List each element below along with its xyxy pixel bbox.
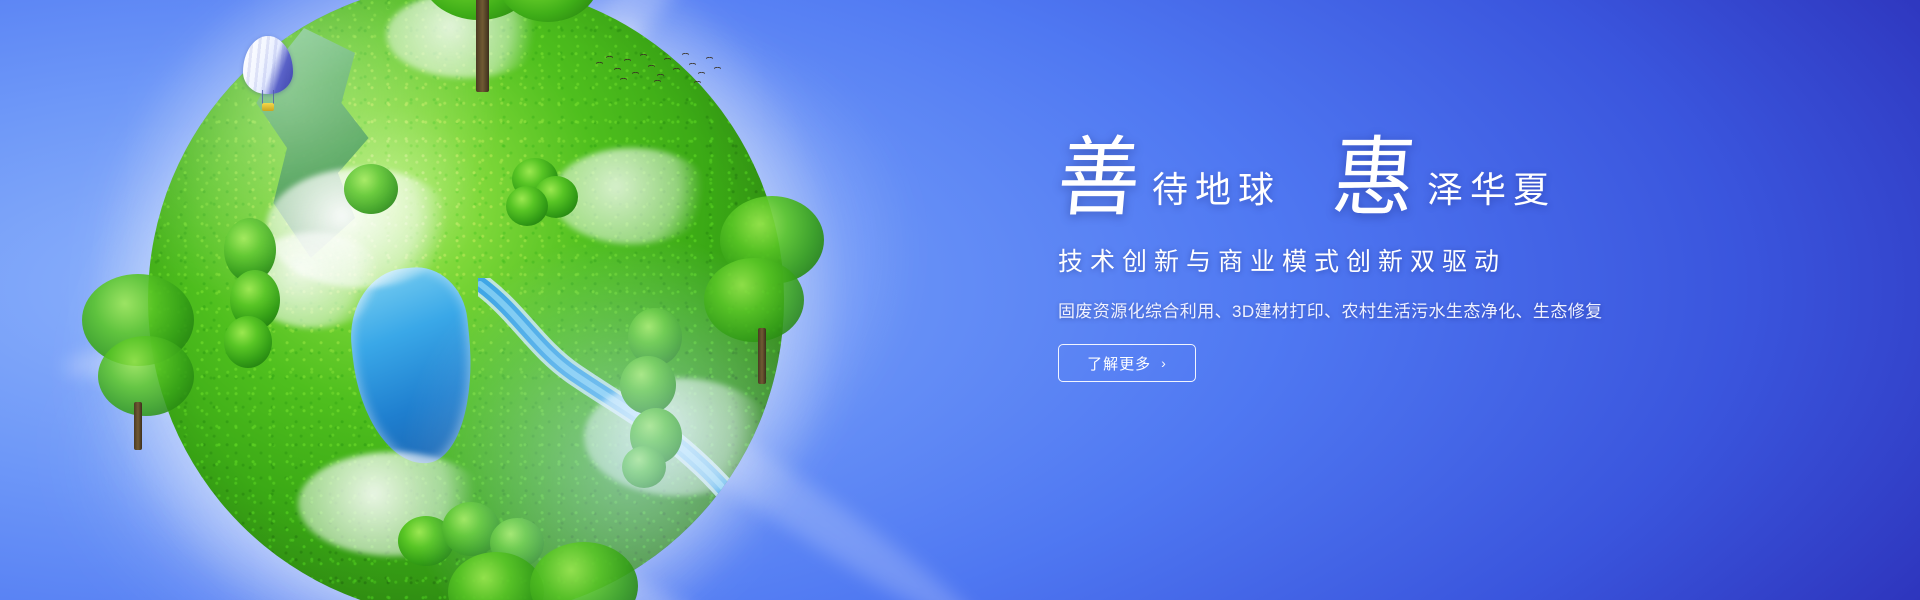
description-text: 固废资源化综合利用、3D建材打印、农村生活污水生态净化、生态修复 xyxy=(1058,297,1678,322)
headline-small-text-1: 待地球 xyxy=(1152,172,1281,208)
balloon-basket xyxy=(262,103,274,111)
lake-shore xyxy=(333,251,497,483)
planet-cloud xyxy=(584,378,774,496)
planet-cloud xyxy=(298,452,488,556)
bush xyxy=(344,164,398,218)
side-tree xyxy=(704,196,830,386)
planet-cloud xyxy=(244,232,384,328)
bush xyxy=(224,218,282,368)
planet-cloud xyxy=(552,148,712,244)
balloon-ropes xyxy=(262,90,274,104)
side-tree xyxy=(82,274,202,450)
learn-more-button[interactable]: 了解更多 › xyxy=(1058,344,1196,382)
bird-flock xyxy=(594,50,724,86)
planet-cloud xyxy=(266,168,456,288)
canopy-tree xyxy=(376,0,606,90)
bush xyxy=(504,158,578,232)
chevron-right-icon: › xyxy=(1161,356,1167,370)
balloon-envelope xyxy=(243,36,293,94)
headline-small-text-2: 泽华夏 xyxy=(1427,172,1556,208)
hero-copy: 善 待地球 惠 泽华夏 技术创新与商业模式创新双驱动 固废资源化综合利用、3D建… xyxy=(1058,120,1678,382)
lake xyxy=(344,262,482,469)
headline-phrase-1: 善 待地球 xyxy=(1058,141,1281,216)
learn-more-label: 了解更多 xyxy=(1087,353,1151,374)
bush xyxy=(618,308,688,488)
hero-banner: 善 待地球 惠 泽华夏 技术创新与商业模式创新双驱动 固废资源化综合利用、3D建… xyxy=(0,0,1920,600)
headline: 善 待地球 惠 泽华夏 xyxy=(1058,120,1678,216)
headline-phrase-2: 惠 泽华夏 xyxy=(1333,141,1556,216)
side-tree xyxy=(448,542,648,600)
subheadline: 技术创新与商业模式创新双驱动 xyxy=(1058,242,1678,278)
hot-air-balloon xyxy=(243,36,293,114)
headline-big-char-1: 善 xyxy=(1055,138,1144,218)
headline-big-char-2: 惠 xyxy=(1330,138,1419,218)
